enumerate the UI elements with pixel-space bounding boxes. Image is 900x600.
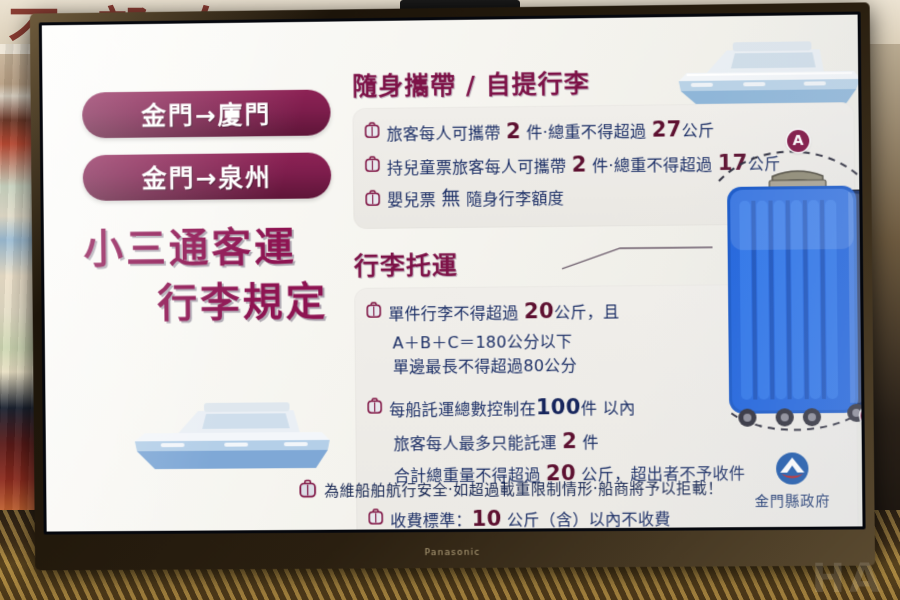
scene: 不 部 匆 Panasonic [0, 0, 900, 600]
dimension-marker-a: A [787, 130, 809, 152]
suitcase-bullet-icon [299, 479, 316, 502]
footer-note-text: 為維船舶航行安全·如超過載重限制情形·船商將予以拒載！ [324, 477, 723, 501]
suitcase-bullet-icon [368, 509, 383, 529]
government-name: 金門縣政府 [737, 490, 848, 511]
poster: 金門→廈門 金門→泉州 小三通客運 行李規定 [42, 15, 863, 532]
tv-brand-label: Panasonic [35, 545, 875, 560]
suitcase-illustration: A B C [696, 145, 862, 438]
checked-item-2-text: 每船託運總數控制在100件 以內 [389, 392, 635, 425]
boat-illustration-bottom [132, 388, 332, 475]
suitcase-bullet-icon [365, 190, 380, 210]
government-logo-block: 金門縣政府 [737, 451, 849, 511]
poster-main-title: 小三通客運 行李規定 [83, 220, 332, 332]
leader-line [562, 245, 713, 271]
watermark: HA [812, 556, 884, 600]
kinmen-gov-emblem-icon [775, 451, 810, 485]
carryon-item-1: 旅客每人可攜帶 2 件·總重不得超過 27公斤 [364, 112, 842, 149]
tv-bezel: Panasonic [30, 2, 875, 570]
checked-item-3-text: 收費標準：10 公斤（含）以內不收費 [390, 503, 671, 532]
tv-screen: 金門→廈門 金門→泉州 小三通客運 行李規定 [42, 15, 863, 532]
route-pill-1: 金門→廈門 [82, 89, 331, 138]
suitcase-bullet-icon [366, 302, 381, 322]
suitcase-bullet-icon [365, 156, 380, 176]
suitcase-bullet-icon [365, 122, 380, 142]
suitcase-bullet-icon [367, 398, 382, 418]
poster-title-line-1: 小三通客運 [83, 220, 332, 278]
route-pill-1-label: 金門→廈門 [141, 95, 271, 132]
route-pill-2-label: 金門→泉州 [142, 158, 272, 195]
carryon-item-3-text: 嬰兒票 無 隨身行李額度 [387, 184, 564, 214]
checked-item-1-text: 單件行李不得超過 20公斤，且 [388, 296, 619, 329]
left-column: 金門→廈門 金門→泉州 小三通客運 行李規定 [82, 89, 333, 332]
route-pill-2: 金門→泉州 [83, 152, 332, 201]
tv-panel: 金門→廈門 金門→泉州 小三通客運 行李規定 [39, 12, 866, 535]
carryon-heading: 隨身攜帶 / 自提行李 [352, 61, 854, 103]
carryon-item-1-text: 旅客每人可攜帶 2 件·總重不得超過 27公斤 [386, 114, 714, 149]
poster-title-line-2: 行李規定 [84, 275, 333, 332]
television: Panasonic [30, 8, 870, 568]
